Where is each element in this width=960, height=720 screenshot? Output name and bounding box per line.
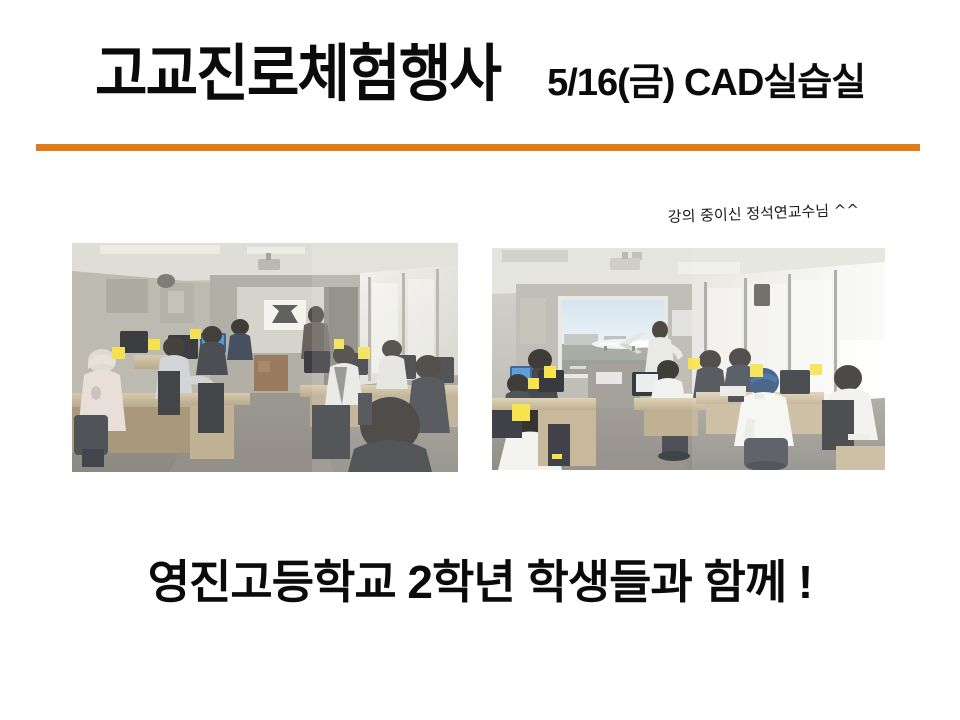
slide-caption: 영진고등학교 2학년 학생들과 함께 ! (0, 549, 960, 609)
presentation-slide: 고교진로체험행사 5/16(금) CAD실습실 강의 중이신 정석연교수님 ^^ (0, 0, 960, 720)
photo-right-illustration (492, 248, 885, 470)
photo-left-illustration (72, 243, 458, 472)
handwritten-annotation: 강의 중이신 정석연교수님 ^^ (667, 197, 900, 236)
title-main-text: 고교진로체험행사 (95, 44, 500, 106)
photo-classroom-left (72, 243, 458, 472)
slide-title: 고교진로체험행사 5/16(금) CAD실습실 (0, 44, 960, 122)
title-subtitle-text: 5/16(금) CAD실습실 (547, 64, 865, 102)
photo-classroom-right (492, 248, 885, 470)
title-divider-line (36, 144, 920, 151)
